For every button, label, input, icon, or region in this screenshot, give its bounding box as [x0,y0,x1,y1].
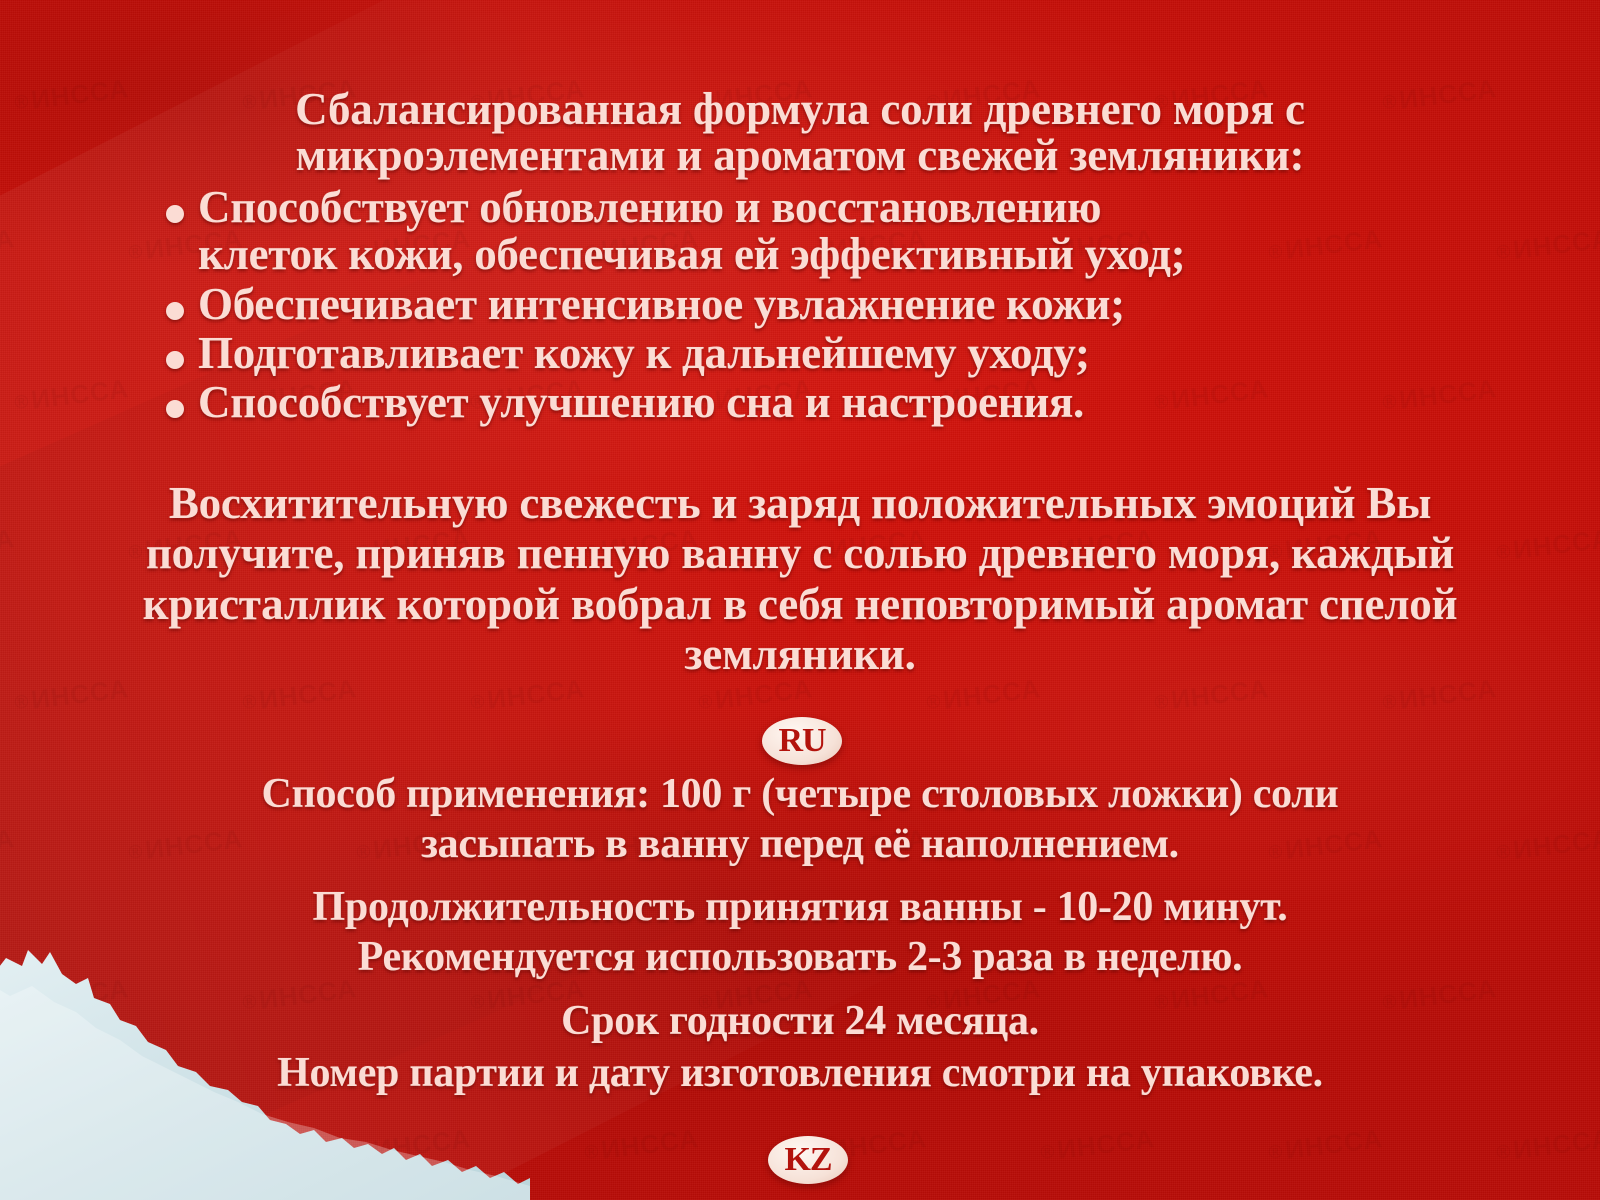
package-text-content: Сбалансированная формула соли древнего м… [0,0,1600,1200]
shelf-life-line: Срок годности 24 месяца. [60,995,1540,1047]
list-item: Подготавливает кожу к дальнейшему уходу; [150,330,1450,377]
intro-line-1: Сбалансированная формула соли древнего м… [295,84,1305,134]
bullet-dot-icon [166,302,184,320]
country-badge-ru: RU [762,717,842,765]
benefit-line-1: Обеспечивает интенсивное увлажнение кожи… [198,281,1450,328]
bullet-dot-icon [166,205,184,223]
list-item: Способствует улучшению сна и настроения. [150,379,1450,426]
usage-line-1: Способ применения: 100 г (четыре столовы… [60,770,1540,820]
bullet-dot-icon [166,400,184,418]
marketing-paragraph: Восхитительную свежесть и заряд положите… [22,478,1578,680]
benefit-line-1: Способствует улучшению сна и настроения. [198,379,1450,426]
usage-line-2: засыпать в ванну перед её наполнением. [60,820,1540,870]
poetic-line-2: получите, приняв пенную ванну с солью др… [146,528,1454,578]
intro-line-2: микроэлементами и ароматом свежей землян… [296,130,1305,180]
benefits-list: Способствует обновлению и восстановлению… [150,184,1450,428]
usage-instructions: Способ применения: 100 г (четыре столовы… [60,770,1540,982]
benefit-line-1: Подготавливает кожу к дальнейшему уходу; [198,330,1450,377]
list-item: Обеспечивает интенсивное увлажнение кожи… [150,281,1450,328]
package-back-panel: ®ИНССА®ИНССА®ИНССА®ИНССА®ИНССА®ИНССА®ИНС… [0,0,1600,1200]
poetic-line-4: земляники. [684,629,915,679]
intro-paragraph: Сбалансированная формула соли древнего м… [118,86,1482,179]
country-badge-ru-label: RU [778,724,825,758]
usage-line-3: Продолжительность принятия ванны - 10-20… [60,883,1540,933]
country-badge-kz-label: KZ [784,1143,831,1177]
country-badge-kz: KZ [768,1136,848,1184]
usage-line-4: Рекомендуется использовать 2-3 раза в не… [60,933,1540,983]
batch-number-line: Номер партии и дату изготовления смотри … [60,1047,1540,1099]
benefit-line-1: Способствует обновлению и восстановлению [198,184,1450,231]
shelf-life-info: Срок годности 24 месяца. Номер партии и … [60,995,1540,1099]
bullet-dot-icon [166,351,184,369]
poetic-line-1: Восхитительную свежесть и заряд положите… [169,478,1431,528]
poetic-line-3: кристаллик которой вобрал в себя неповто… [143,579,1458,629]
benefit-line-2: клеток кожи, обеспечивая ей эффективный … [198,231,1450,278]
list-item: Способствует обновлению и восстановлению… [150,184,1450,279]
